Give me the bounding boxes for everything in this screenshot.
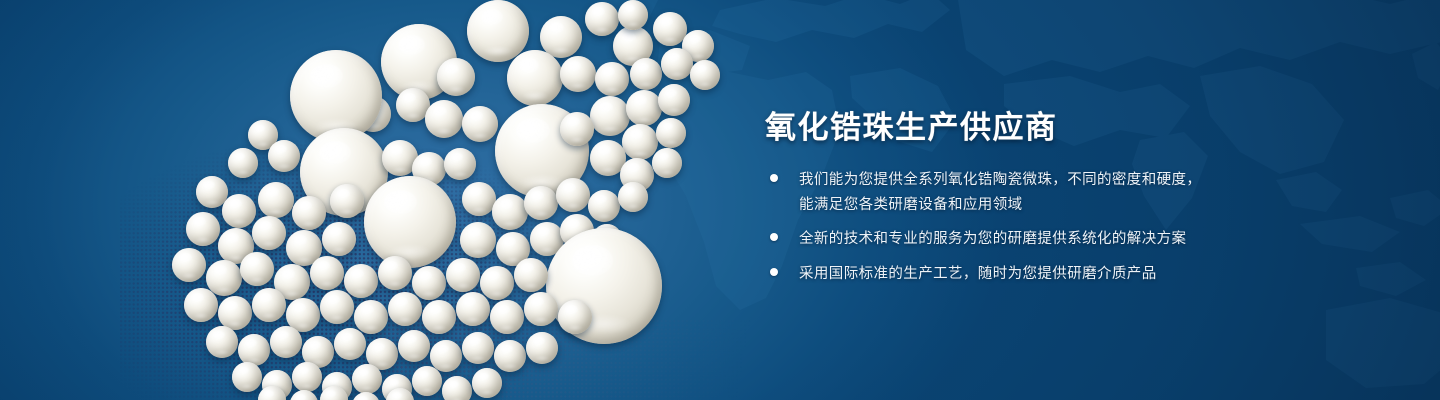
list-item: 我们能为您提供全系列氧化锆陶瓷微珠，不同的密度和硬度， 能满足您各类研磨设备和应… — [768, 168, 1368, 217]
bullet-dot-icon — [770, 268, 778, 276]
bullet-dot-icon — [770, 174, 778, 182]
hero-banner: 氧化锆珠生产供应商 我们能为您提供全系列氧化锆陶瓷微珠，不同的密度和硬度， 能满… — [0, 0, 1440, 400]
bullet-text: 采用国际标准的生产工艺，随时为您提供研磨介质产品 — [799, 262, 1368, 287]
bullet-line: 全新的技术和专业的服务为您的研磨提供系统化的解决方案 — [799, 227, 1368, 252]
banner-content: 氧化锆珠生产供应商 我们能为您提供全系列氧化锆陶瓷微珠，不同的密度和硬度， 能满… — [765, 0, 1385, 400]
bullet-text: 我们能为您提供全系列氧化锆陶瓷微珠，不同的密度和硬度， 能满足您各类研磨设备和应… — [799, 168, 1368, 217]
list-item: 全新的技术和专业的服务为您的研磨提供系统化的解决方案 — [768, 227, 1368, 252]
banner-feature-list: 我们能为您提供全系列氧化锆陶瓷微珠，不同的密度和硬度， 能满足您各类研磨设备和应… — [768, 168, 1368, 296]
bullet-dot-icon — [770, 233, 778, 241]
bullet-line: 采用国际标准的生产工艺，随时为您提供研磨介质产品 — [799, 262, 1368, 287]
bullet-line: 我们能为您提供全系列氧化锆陶瓷微珠，不同的密度和硬度， — [799, 168, 1368, 193]
list-item: 采用国际标准的生产工艺，随时为您提供研磨介质产品 — [768, 262, 1368, 287]
bullet-text: 全新的技术和专业的服务为您的研磨提供系统化的解决方案 — [799, 227, 1368, 252]
banner-title: 氧化锆珠生产供应商 — [765, 108, 1058, 148]
bullet-line: 能满足您各类研磨设备和应用领域 — [799, 193, 1368, 218]
